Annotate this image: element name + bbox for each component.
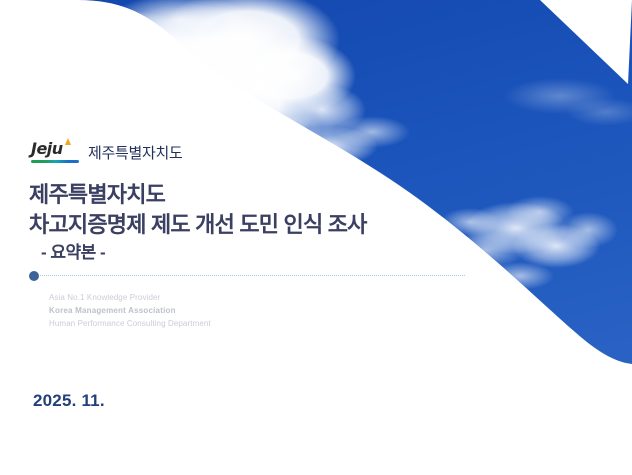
jeju-logo-mark: Jeju xyxy=(31,139,79,165)
divider-dot xyxy=(29,271,39,281)
organization-credit: Asia No.1 Knowledge Provider Korea Manag… xyxy=(49,291,211,330)
presentation-cover-slide: Jeju 제주특별자치도 제주특별자치도 차고지증명제 제도 개선 도민 인식 … xyxy=(0,0,632,475)
jeju-underline-bar xyxy=(31,160,79,163)
title-subtitle: - 요약본 - xyxy=(29,240,489,266)
title-line-2: 차고지증명제 제도 개선 도민 인식 조사 xyxy=(29,210,489,240)
publication-date: 2025. 11. xyxy=(33,391,105,411)
cloud-cluster-lower xyxy=(260,116,410,176)
title-line-1: 제주특별자치도 xyxy=(29,180,489,210)
organization-department: Human Performance Consulting Department xyxy=(49,317,211,330)
jeju-logo-label: 제주특별자치도 xyxy=(88,142,183,165)
jeju-wordmark: Jeju xyxy=(31,140,63,158)
spark-icon xyxy=(65,138,71,145)
cloud-haze-topright xyxy=(504,78,632,126)
jeju-logo-lockup: Jeju 제주특별자치도 xyxy=(31,139,183,165)
organization-tagline: Asia No.1 Knowledge Provider xyxy=(49,291,211,304)
page-title: 제주특별자치도 차고지증명제 제도 개선 도민 인식 조사 - 요약본 - xyxy=(29,180,489,266)
divider-line xyxy=(40,275,465,276)
organization-name: Korea Management Association xyxy=(49,304,211,317)
